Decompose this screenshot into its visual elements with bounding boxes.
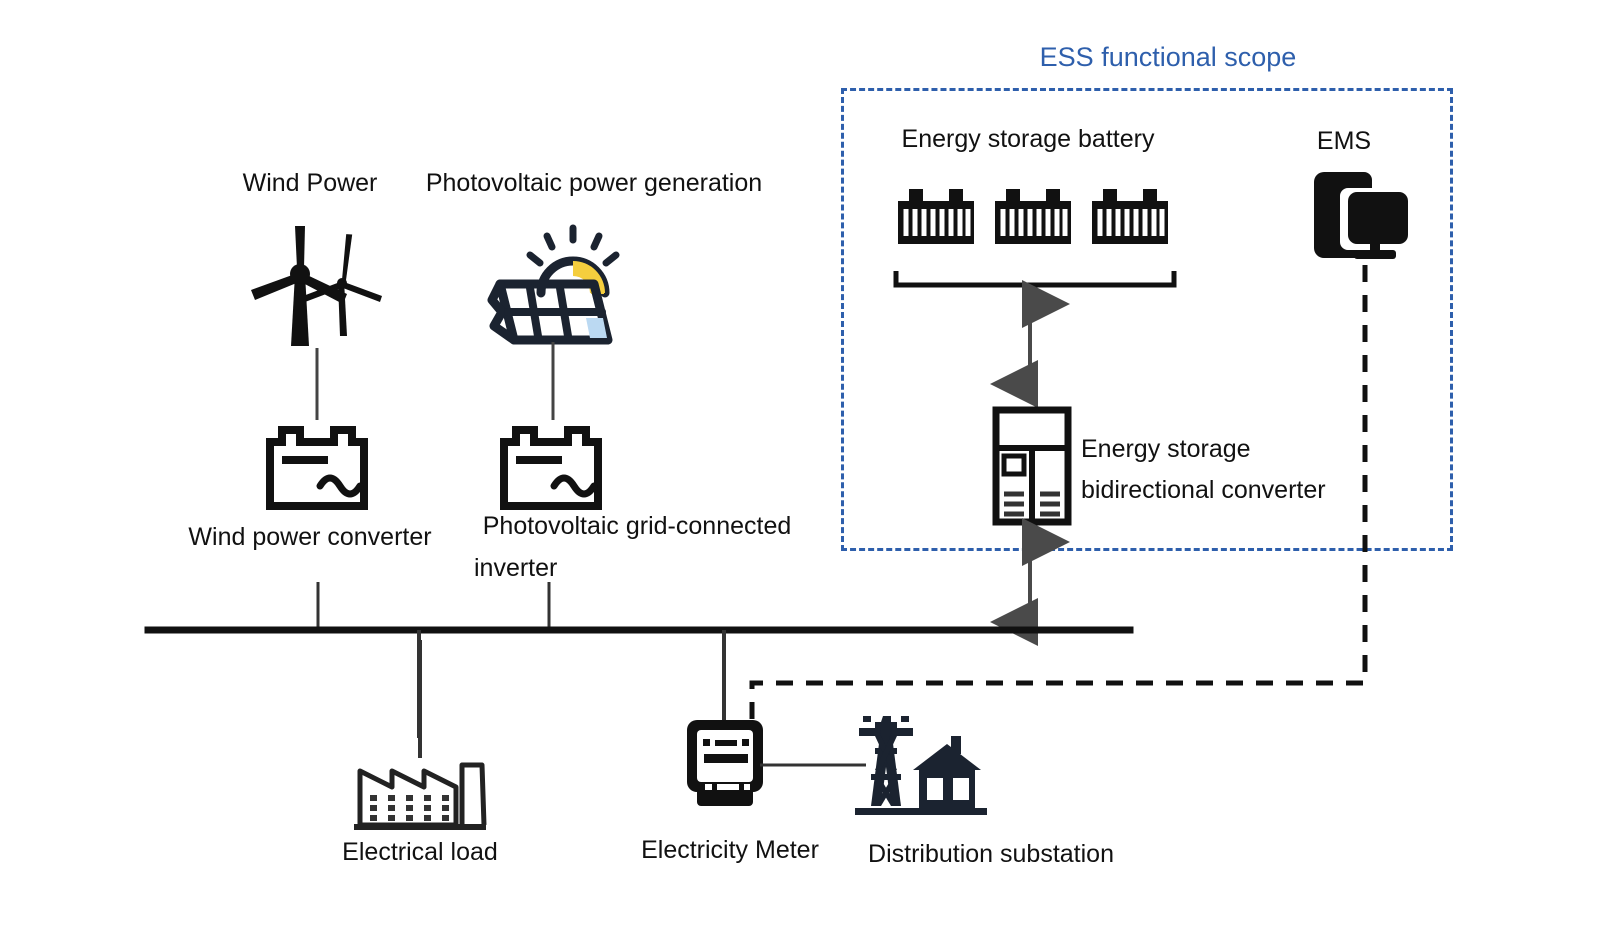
label-ems: EMS xyxy=(1317,124,1371,158)
ems-computer-icon xyxy=(1308,168,1412,264)
converter-icon xyxy=(496,420,606,510)
bus-to-load-line xyxy=(415,640,425,758)
converter-icon xyxy=(262,420,372,510)
battery-icon xyxy=(990,183,1076,249)
label-electricity-meter: Electricity Meter xyxy=(641,833,819,867)
wind-to-converter-line xyxy=(312,348,322,420)
ess-scope-title: ESS functional scope xyxy=(1040,42,1297,73)
substation-icon xyxy=(855,708,987,816)
diagram-canvas: ESS functional scope Wind Power Photovol… xyxy=(0,0,1599,926)
label-pv-inverter-line2: inverter xyxy=(474,551,557,585)
ems-control-dashed-link xyxy=(740,255,1380,735)
pv-to-inverter-line xyxy=(548,342,558,420)
battery-icon xyxy=(1087,183,1173,249)
label-wind-converter: Wind power converter xyxy=(188,520,431,554)
label-wind-power: Wind Power xyxy=(243,166,378,200)
label-electrical-load: Electrical load xyxy=(342,835,498,869)
battery-icon xyxy=(893,183,979,249)
factory-icon xyxy=(352,755,488,833)
meter-to-substation-line xyxy=(760,760,868,770)
label-energy-storage-battery: Energy storage battery xyxy=(902,122,1155,156)
label-distribution-substation: Distribution substation xyxy=(868,837,1114,871)
electricity-meter-icon xyxy=(687,716,763,808)
solar-panel-icon xyxy=(478,222,618,342)
wind-turbine-icon xyxy=(243,222,383,352)
label-pv-generation: Photovoltaic power generation xyxy=(426,166,762,200)
